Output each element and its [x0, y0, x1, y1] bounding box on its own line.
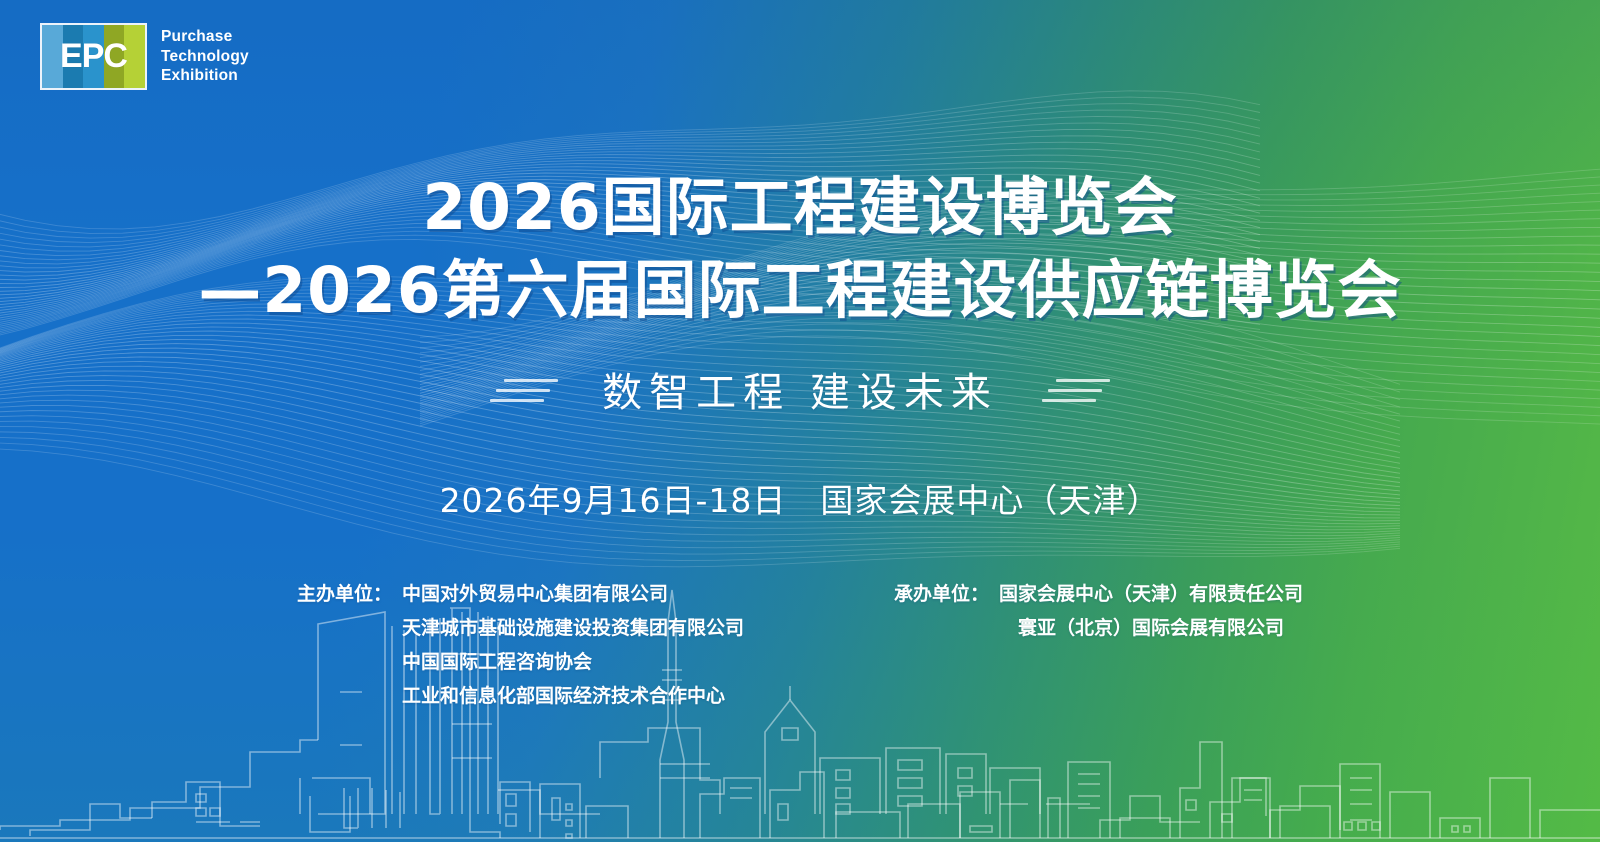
date-venue-line: 2026年9月16日-18日 国家会展中心（天津） — [0, 474, 1600, 522]
headline-block: 2026国际工程建设博览会 —2026第六届国际工程建设供应链博览会 — [0, 176, 1600, 322]
headline-line-2: —2026第六届国际工程建设供应链博览会 — [0, 259, 1600, 322]
triple-line-mark-right-icon — [1042, 372, 1110, 406]
logo-subtitle-line-2: Technology — [161, 47, 249, 67]
host-list: 中国对外贸易中心集团有限公司 天津城市基础设施建设投资集团有限公司 中国国际工程… — [402, 577, 744, 713]
host-item: 中国国际工程咨询协会 — [402, 645, 744, 679]
logo-letters: EPC — [42, 25, 145, 88]
logo-subtitle-line-1: Purchase — [161, 27, 249, 47]
logo-subtitle: Purchase Technology Exhibition — [161, 27, 249, 86]
slogan-text: 数智工程 建设未来 — [602, 360, 998, 418]
coorganizer-label: 承办单位： — [894, 577, 989, 611]
logo-subtitle-line-3: Exhibition — [161, 66, 249, 86]
host-item: 天津城市基础设施建设投资集团有限公司 — [402, 611, 744, 645]
host-item: 中国对外贸易中心集团有限公司 — [402, 577, 744, 611]
host-label: 主办单位： — [297, 577, 392, 611]
triple-line-mark-left-icon — [490, 372, 558, 406]
host-item: 工业和信息化部国际经济技术合作中心 — [402, 679, 744, 713]
coorganizer-item: 寰亚（北京）国际会展有限公司 — [999, 611, 1303, 645]
coorganizer-column: 承办单位： 国家会展中心（天津）有限责任公司 寰亚（北京）国际会展有限公司 — [894, 577, 1303, 713]
headline-line-1: 2026国际工程建设博览会 — [0, 176, 1600, 239]
epc-logo[interactable]: EPC Purchase Technology Exhibition — [40, 23, 249, 90]
coorganizer-list: 国家会展中心（天津）有限责任公司 寰亚（北京）国际会展有限公司 — [999, 577, 1303, 645]
epc-logo-mark: EPC — [40, 23, 147, 90]
slogan-row: 数智工程 建设未来 — [0, 360, 1600, 418]
organizers-block: 主办单位： 中国对外贸易中心集团有限公司 天津城市基础设施建设投资集团有限公司 … — [0, 577, 1600, 713]
host-column: 主办单位： 中国对外贸易中心集团有限公司 天津城市基础设施建设投资集团有限公司 … — [297, 577, 744, 713]
banner-canvas: EPC Purchase Technology Exhibition 2026国… — [0, 0, 1600, 842]
coorganizer-item: 国家会展中心（天津）有限责任公司 — [999, 577, 1303, 611]
